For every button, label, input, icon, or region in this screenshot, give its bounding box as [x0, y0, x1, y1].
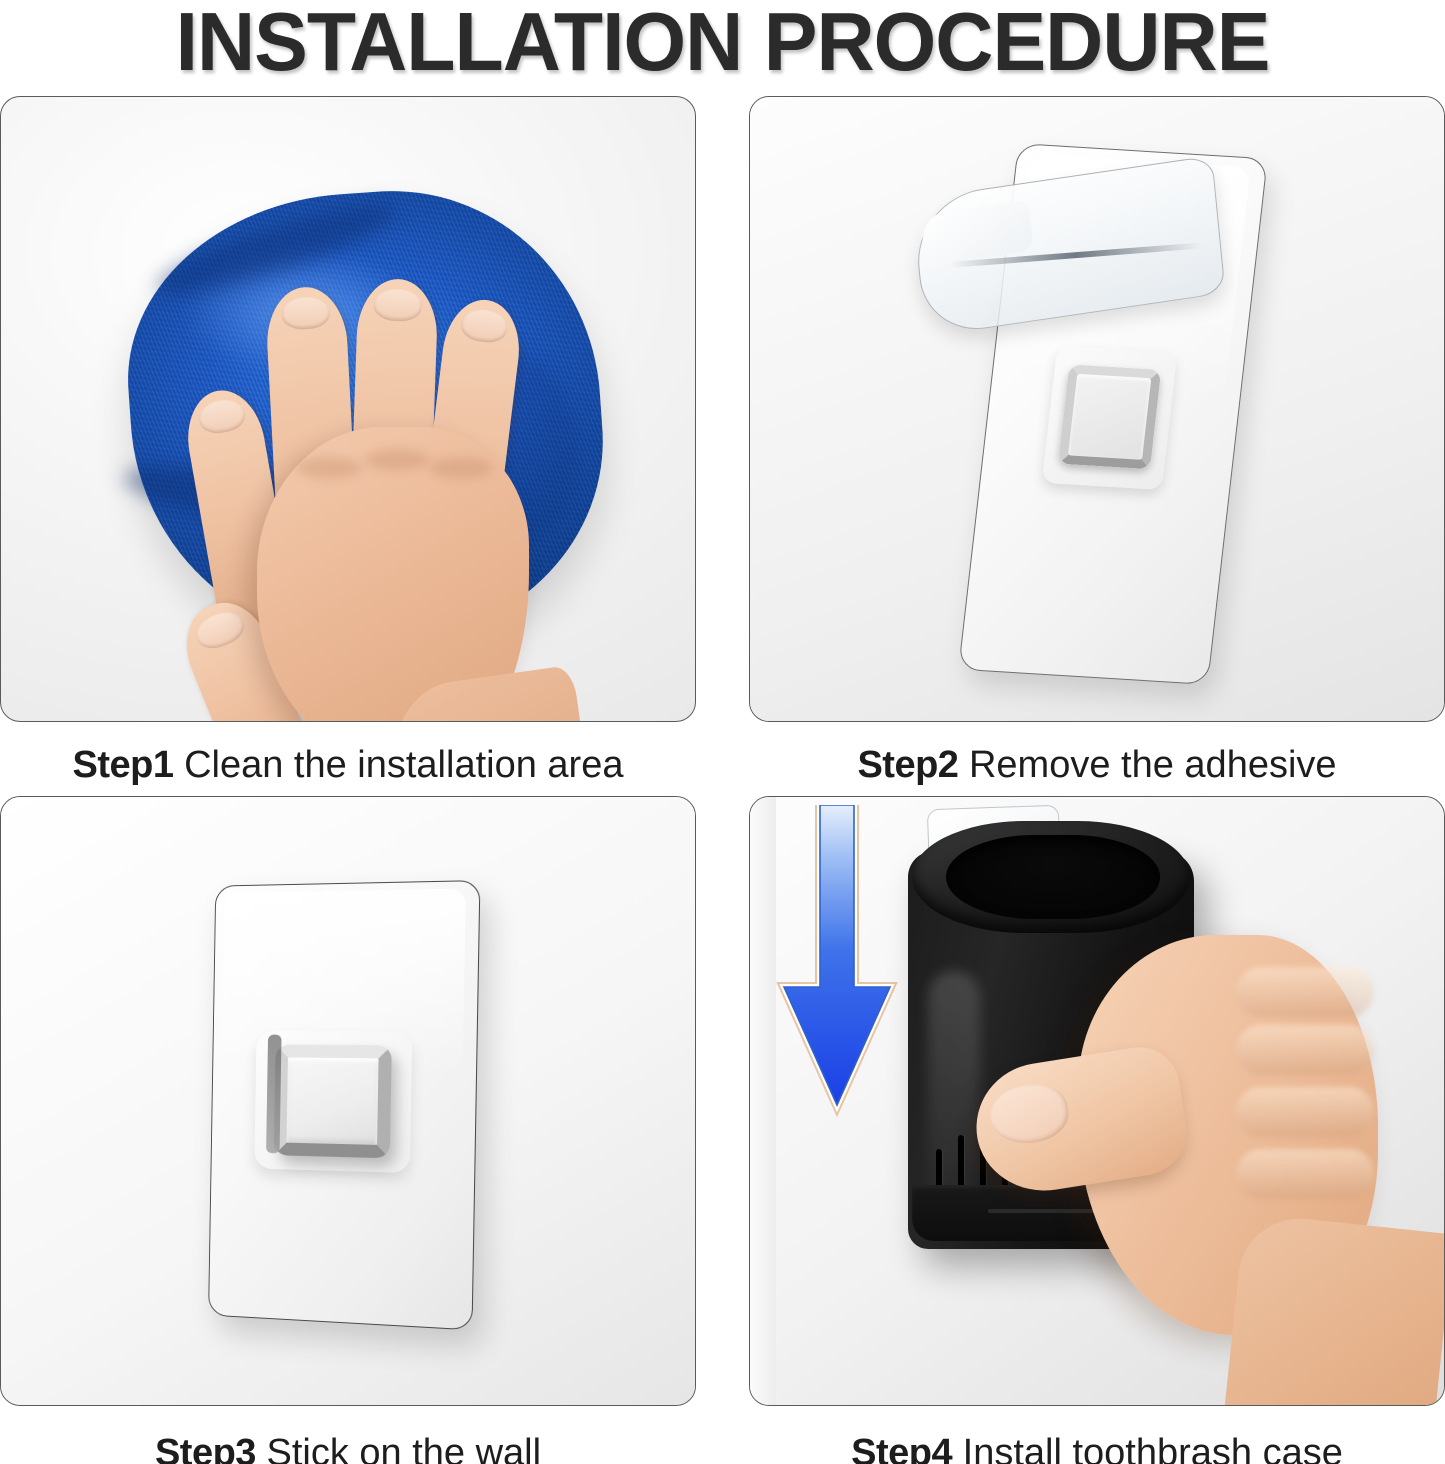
- step-2-image: [749, 96, 1445, 722]
- scene-stick-on-wall: [1, 797, 695, 1405]
- step-1-number: Step1: [73, 744, 174, 786]
- thumbnail: [986, 1079, 1072, 1148]
- fingernail: [197, 397, 247, 436]
- step-4-number: Step4: [851, 1432, 952, 1464]
- fingernail: [191, 606, 249, 654]
- square-hook: [254, 1031, 412, 1173]
- step-4-image: [749, 796, 1445, 1406]
- step-3-caption: Step3 Stick on the wall: [0, 1430, 696, 1464]
- step-2-caption: Step2 Remove the adhesive: [749, 742, 1445, 788]
- steps-grid: Step1 Clean the installation area: [0, 96, 1445, 1464]
- finger-segment: [1236, 967, 1374, 1017]
- finger-segment: [1236, 1149, 1374, 1199]
- step-3-number: Step3: [155, 1432, 256, 1464]
- scene-remove-adhesive: [750, 97, 1444, 721]
- step-card-4: Step4 Install toothbrash case: [749, 796, 1445, 1464]
- step-2-number: Step2: [857, 744, 958, 786]
- step-card-3: Step3 Stick on the wall: [0, 796, 696, 1464]
- step-3-description: Stick on the wall: [266, 1432, 541, 1464]
- down-arrow-icon: [762, 805, 912, 1135]
- hook-lip: [266, 1035, 282, 1154]
- scene-install-case: [750, 797, 1444, 1405]
- step-4-caption: Step4 Install toothbrash case: [749, 1430, 1445, 1464]
- knuckle: [429, 457, 493, 479]
- finger-segment: [1236, 1087, 1374, 1137]
- step-3-image: [0, 796, 696, 1406]
- scene-clean-wall: [1, 97, 695, 721]
- adhesive-sticker: [958, 143, 1268, 685]
- hand-wiping: [197, 277, 537, 722]
- page-title: INSTALLATION PROCEDURE: [22, 0, 1424, 90]
- step-1-image: [0, 96, 696, 722]
- hook-ring: [1058, 364, 1161, 469]
- step-1-caption: Step1 Clean the installation area: [0, 742, 696, 788]
- knuckle: [365, 449, 429, 471]
- square-hook: [1042, 346, 1178, 490]
- fingernail: [460, 307, 509, 344]
- film-edge: [950, 242, 1202, 267]
- step-1-description: Clean the installation area: [184, 744, 623, 786]
- step-card-2: Step2 Remove the adhesive: [749, 96, 1445, 780]
- knuckle: [297, 457, 361, 479]
- step-4-description: Install toothbrash case: [963, 1432, 1343, 1464]
- fingernail: [373, 288, 422, 322]
- wrist: [1224, 1213, 1445, 1406]
- step-2-description: Remove the adhesive: [969, 744, 1337, 786]
- step-card-1: Step1 Clean the installation area: [0, 96, 696, 780]
- fingernail: [281, 296, 331, 330]
- mounted-adhesive-sticker: [208, 880, 480, 1330]
- finger-segment: [1236, 1025, 1374, 1075]
- hook-ring: [274, 1045, 392, 1159]
- fingers-wrapped: [1236, 967, 1386, 1217]
- installation-procedure-infographic: INSTALLATION PROCEDURE: [0, 0, 1445, 1464]
- hand-installing: [1008, 871, 1408, 1401]
